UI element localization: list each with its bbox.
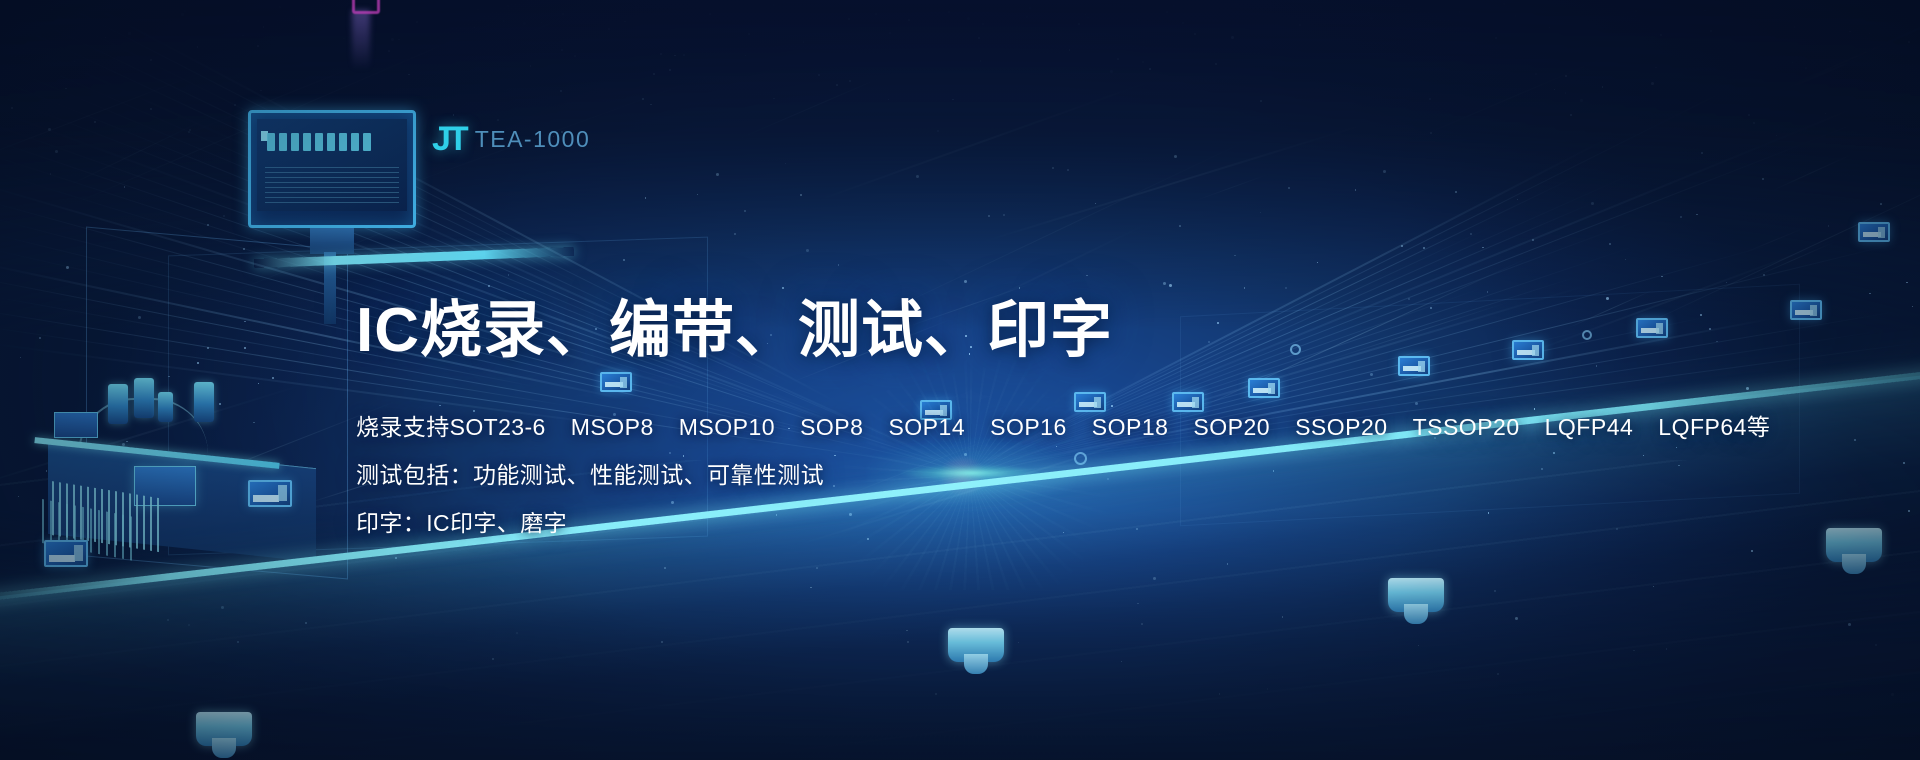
package-item: MSOP10: [679, 416, 775, 439]
package-item: MSOP8: [571, 416, 654, 439]
page-title: IC烧录、编带、测试、印字: [356, 300, 1716, 362]
ceiling-light-beam: [352, 10, 370, 70]
package-item: LQFP44: [1545, 416, 1634, 439]
supported-packages-line: 烧录支持SOT23-6 MSOP8 MSOP10 SOP8 SOP14 SOP1…: [356, 416, 1716, 439]
marking-service-line: 印字：IC印字、磨字: [356, 512, 1716, 535]
testing-scope-line: 测试包括：功能测试、性能测试、可靠性测试: [356, 464, 1716, 487]
package-item: SOP14: [888, 416, 965, 439]
ic-service-banner: JT TEA-1000 IC烧录、编带、测试、印字 烧录支持SOT23-6 MS…: [0, 0, 1920, 760]
package-item: SSOP20: [1295, 416, 1388, 439]
packages-lead-label: 烧录支持SOT23-6: [356, 416, 546, 439]
logo-mark-text: JT: [432, 122, 466, 156]
package-item: TSSOP20: [1413, 416, 1520, 439]
banner-text-block: IC烧录、编带、测试、印字 烧录支持SOT23-6 MSOP8 MSOP10 S…: [356, 300, 1716, 535]
package-item: SOP8: [800, 416, 863, 439]
package-item: SOP20: [1193, 416, 1270, 439]
ceiling-marker-icon: [352, 0, 380, 14]
package-item: SOP16: [990, 416, 1067, 439]
machine-brand-logo: JT TEA-1000: [432, 122, 590, 156]
logo-model-text: TEA-1000: [475, 128, 591, 151]
package-item: LQFP64等: [1658, 416, 1770, 439]
package-item: SOP18: [1092, 416, 1169, 439]
